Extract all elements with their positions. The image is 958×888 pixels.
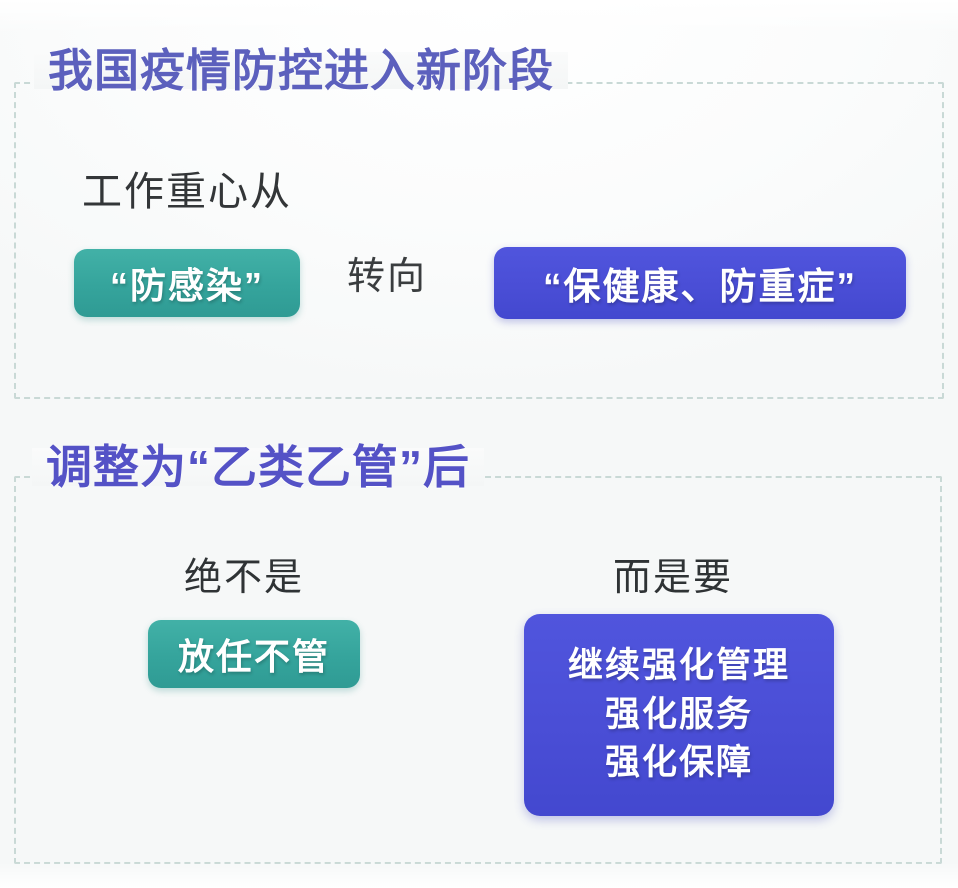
positive-statement-line: 强化保障 [605,741,753,786]
positive-column-label: 而是要 [613,559,733,597]
positive-statement-box: 继续强化管理 强化服务 强化保障 [524,614,834,816]
focus-to-pill: “保健康、防重症” [494,247,906,319]
section-one-heading-text: 我国疫情防控进入新阶段 [48,45,554,96]
section-one-panel [14,82,944,399]
infographic-poster: 我国疫情防控进入新阶段 工作重心从 “防感染” 转向 “保健康、防重症” 调整为… [0,0,958,888]
focus-from-pill-label: “防感染” [110,257,264,309]
negative-statement-pill: 放任不管 [148,620,360,688]
section-two-heading: 调整为“乙类乙管”后 [46,444,470,490]
focus-from-pill: “防感染” [74,249,300,317]
section-two-heading-text: 调整为“乙类乙管”后 [46,441,470,493]
focus-to-pill-label: “保健康、防重症” [543,256,857,310]
section-one-lead-text: 工作重心从 [82,172,292,212]
positive-statement-line: 强化服务 [605,693,753,738]
negative-statement-pill-label: 放任不管 [178,628,330,680]
positive-statement-line: 继续强化管理 [568,644,790,689]
negative-column-label: 绝不是 [184,559,304,597]
section-one-connector-text: 转向 [347,258,427,296]
section-one-heading: 我国疫情防控进入新阶段 [48,48,554,93]
